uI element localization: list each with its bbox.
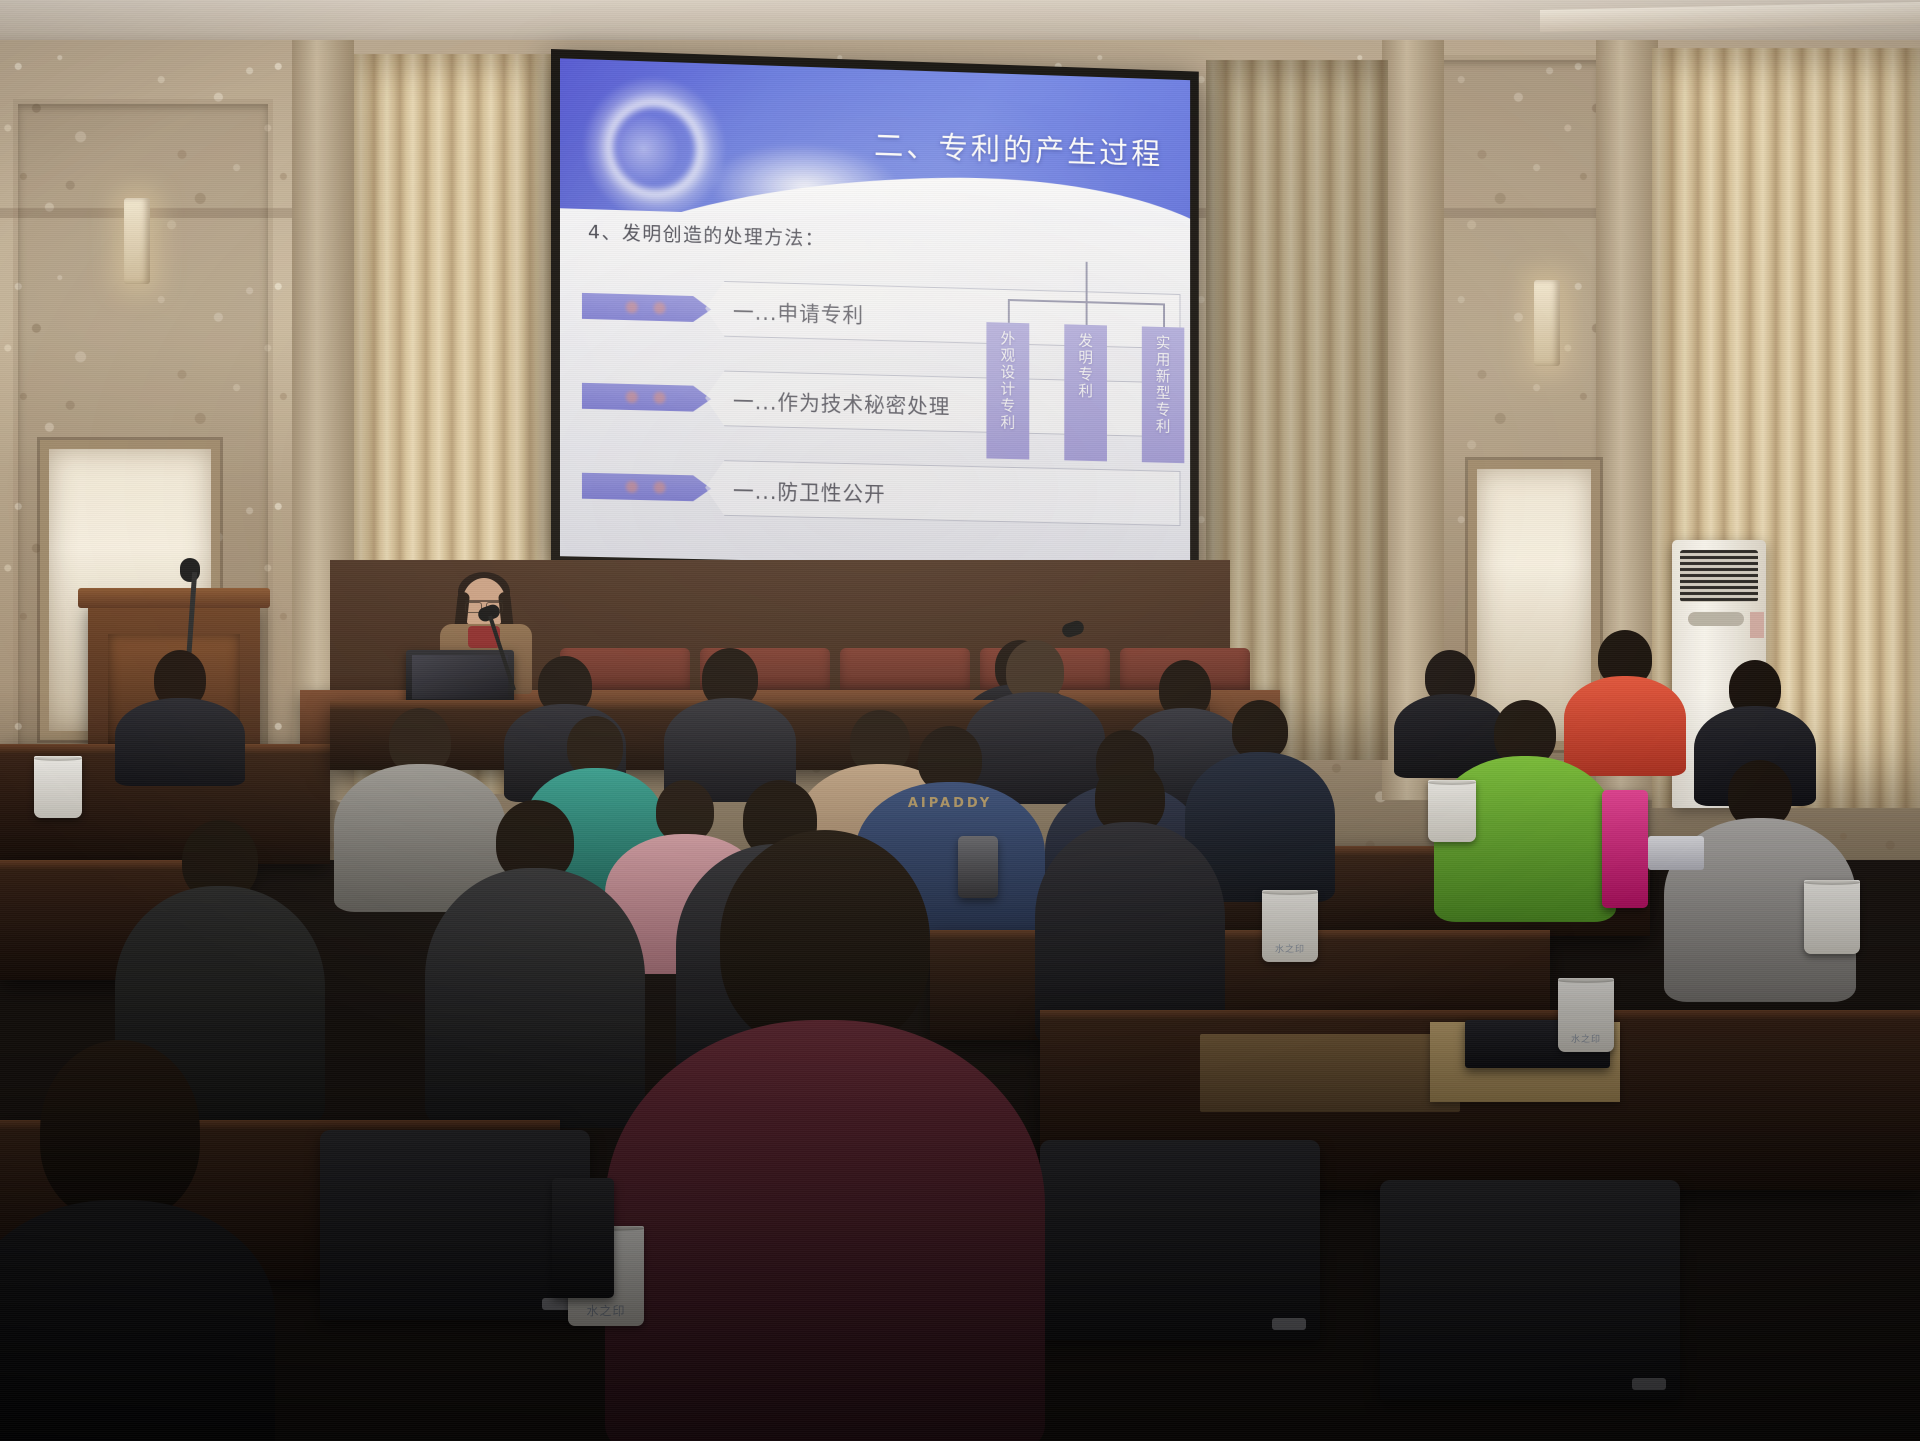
paper-cup-3 [1804, 880, 1860, 954]
person-row-d-right [1030, 760, 1230, 1040]
ac-label [1750, 612, 1764, 638]
chair-foreground-right [1380, 1180, 1680, 1400]
person-body [605, 1020, 1045, 1441]
microphone-head-icon [180, 558, 200, 582]
bullet-label-2: 一...作为技术秘密处理 [733, 386, 950, 421]
chair-handle [1632, 1378, 1666, 1390]
paper-cup-4 [1428, 780, 1476, 842]
cup-text: 水之印 [1571, 1032, 1601, 1045]
paper-cup-2: 水之印 [1558, 978, 1614, 1052]
ac-badge [1688, 612, 1744, 626]
mobile-phone [1648, 836, 1704, 870]
person-body [115, 698, 245, 786]
projected-slide: 二、专利的产生过程 4、发明创造的处理方法： 一...申请专利 一...作为技术… [560, 58, 1190, 569]
tree-node-label-3: 实用新型专利 [1153, 335, 1173, 436]
person-dark-suit-left [110, 650, 250, 780]
person-head [40, 1040, 200, 1220]
pink-water-bottle [1602, 790, 1648, 908]
tree-node-label-2: 发明专利 [1075, 332, 1095, 400]
tree-node-label-1: 外观设计专利 [998, 330, 1018, 431]
tree-node-design-patent: 外观设计专利 [986, 322, 1029, 459]
tree-node-utility-model-patent: 实用新型专利 [1142, 326, 1185, 463]
projection-screen-frame: 二、专利的产生过程 4、发明创造的处理方法： 一...申请专利 一...作为技术… [551, 49, 1199, 580]
person-body [0, 1200, 275, 1441]
cup-text: 水之印 [586, 1302, 625, 1319]
person-head [567, 716, 623, 776]
tree-drop-1 [1008, 301, 1010, 323]
tree-drop-2 [1086, 303, 1088, 325]
paper-cup-1: 水之印 [1262, 890, 1318, 962]
wall-sconce-left [124, 198, 150, 284]
person-row-b-2 [660, 648, 800, 798]
jacket-logo-text: AIPADDY [908, 796, 992, 811]
person-maroon-front [600, 830, 1050, 1441]
tree-drop-3 [1163, 305, 1165, 327]
thermos-bottle [958, 836, 998, 898]
paper-cup-5 [34, 756, 82, 818]
wall-sconce-right [1534, 280, 1560, 366]
slide-title: 二、专利的产生过程 [874, 121, 1163, 174]
laptop-screen [412, 655, 508, 699]
ac-grille-icon [1680, 550, 1758, 602]
desk-writing-pad-left [1200, 1034, 1460, 1112]
patent-type-tree-diagram: 外观设计专利 发明专利 实用新型专利 [994, 259, 1178, 510]
chevron-marker-icon [582, 383, 711, 412]
person-head [1232, 700, 1288, 760]
tree-stem [1086, 262, 1088, 301]
bullet-label-1: 一...申请专利 [733, 296, 864, 329]
lectern-top [78, 588, 270, 608]
cup-text: 水之印 [1275, 942, 1305, 955]
chair-foreground-center [1040, 1140, 1320, 1340]
dark-bottle-foreground [552, 1178, 614, 1298]
person-head [720, 830, 930, 1050]
chevron-marker-icon [582, 473, 711, 502]
person-foreground-far-left [0, 1040, 280, 1441]
bullet-label-3: 一...防卫性公开 [733, 475, 886, 508]
lecture-hall-photo: 二、专利的产生过程 4、发明创造的处理方法： 一...申请专利 一...作为技术… [0, 0, 1920, 1441]
chair-foreground-left [320, 1130, 590, 1320]
stage-chair-3 [840, 648, 970, 696]
tree-node-invention-patent: 发明专利 [1064, 324, 1107, 461]
chair-handle [1272, 1318, 1306, 1330]
chevron-marker-icon [582, 293, 711, 323]
